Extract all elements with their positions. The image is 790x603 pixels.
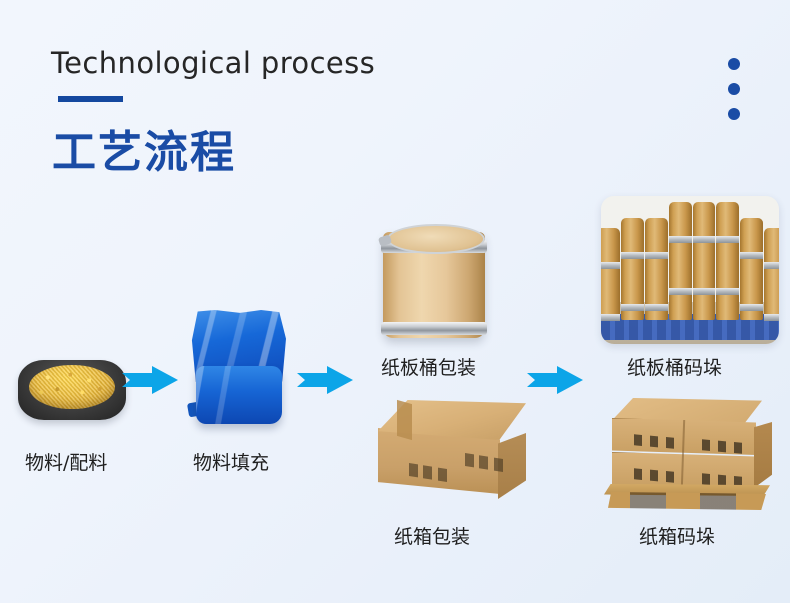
- step-material-label: 物料/配料: [25, 448, 107, 475]
- stacked-drum-shape: [621, 218, 644, 320]
- stacked-drum-shape: [669, 202, 692, 320]
- decorative-dot-icon: [728, 83, 740, 95]
- wooden-pallet-legs: [608, 492, 766, 510]
- step-carton-packing-image: [378, 400, 526, 504]
- decorative-dots-group: [728, 58, 740, 120]
- step-drum-packing-image: [383, 218, 485, 344]
- step-carton-palletizing-image: [604, 398, 770, 510]
- flow-arrow-icon: [297, 365, 353, 395]
- step-carton-packing-label: 纸箱包装: [394, 522, 470, 549]
- decorative-dot-icon: [728, 58, 740, 70]
- step-drum-packing-label: 纸板桶包装: [381, 353, 476, 380]
- step-carton-palletizing-label: 纸箱码垛: [639, 522, 715, 549]
- step-drum-palletizing-label: 纸板桶码垛: [627, 353, 722, 380]
- drum-lid-shape: [387, 224, 485, 254]
- carton-tape-shape: [397, 400, 412, 440]
- drum-bottom-ring-shape: [381, 322, 487, 335]
- process-infographic: Technological process 工艺流程 物料/配料 物料填充 纸板…: [0, 0, 790, 603]
- bag-body-shape: [196, 366, 282, 424]
- stacked-drum-shape: [693, 202, 716, 320]
- stacked-drum-shape: [645, 218, 668, 320]
- stacked-drum-shape: [716, 202, 739, 320]
- yellow-powder-shape: [29, 365, 115, 409]
- step-material-image: [18, 352, 126, 424]
- page-title-chinese: 工艺流程: [52, 116, 236, 180]
- stacked-drum-shape: [764, 228, 779, 320]
- stacked-drum-shape: [601, 228, 620, 320]
- title-underline-rule: [58, 96, 123, 102]
- page-title-english: Technological process: [51, 46, 375, 80]
- carton-stack-side-face: [754, 422, 772, 488]
- flow-arrow-icon: [122, 365, 178, 395]
- step-filling-label: 物料填充: [193, 448, 269, 475]
- flow-arrow-icon: [527, 365, 583, 395]
- step-drum-palletizing-photo: [601, 196, 779, 344]
- stacked-drums-group: [601, 202, 779, 320]
- step-filling-image: [186, 310, 290, 428]
- stacked-drum-shape: [740, 218, 763, 320]
- decorative-dot-icon: [728, 108, 740, 120]
